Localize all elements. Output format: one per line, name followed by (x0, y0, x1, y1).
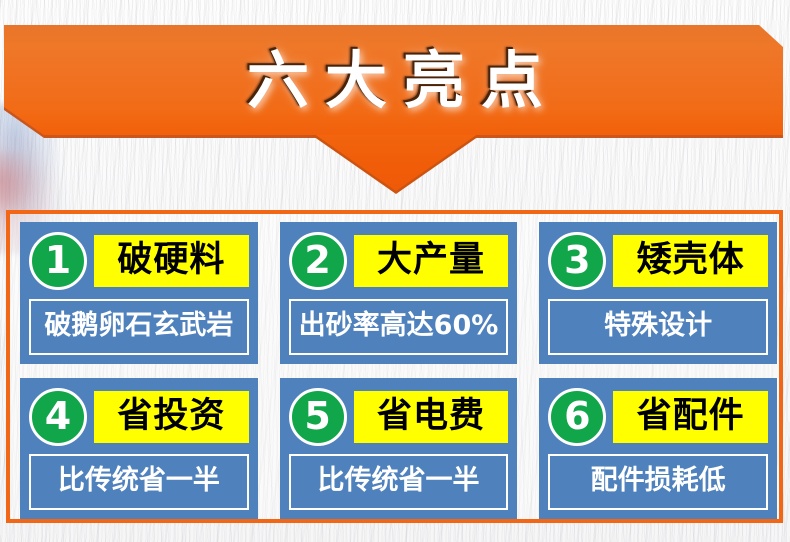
feature-subtitle-2: 出砂率高达60% (289, 299, 509, 355)
feature-grid: 1 破硬料 破鹅卵石玄武岩 2 大产量 出砂率高达60% 3 矮壳体 特殊设计 … (10, 214, 787, 527)
feature-number-badge-3: 3 (548, 232, 606, 290)
feature-subtitle-5: 比传统省一半 (289, 454, 509, 510)
feature-title-4: 省投资 (94, 391, 249, 443)
feature-number-badge-6: 6 (548, 388, 606, 446)
feature-frame: 1 破硬料 破鹅卵石玄武岩 2 大产量 出砂率高达60% 3 矮壳体 特殊设计 … (6, 210, 783, 523)
feature-card-1-header: 1 破硬料 (29, 230, 249, 292)
feature-number-badge-4: 4 (29, 388, 87, 446)
feature-card-3[interactable]: 3 矮壳体 特殊设计 (539, 222, 777, 364)
feature-title-3: 矮壳体 (613, 235, 768, 287)
feature-subtitle-4: 比传统省一半 (29, 454, 249, 510)
feature-title-5: 省电费 (354, 391, 509, 443)
feature-title-6: 省配件 (613, 391, 768, 443)
feature-card-5-header: 5 省电费 (289, 386, 509, 448)
feature-subtitle-3: 特殊设计 (548, 299, 768, 355)
feature-title-1: 破硬料 (94, 235, 249, 287)
feature-card-1[interactable]: 1 破硬料 破鹅卵石玄武岩 (20, 222, 258, 364)
feature-card-4-header: 4 省投资 (29, 386, 249, 448)
banner-arrow-point (310, 131, 482, 191)
page-title: 六大亮点 (0, 33, 790, 129)
feature-card-2-header: 2 大产量 (289, 230, 509, 292)
feature-card-6-header: 6 省配件 (548, 386, 768, 448)
feature-card-5[interactable]: 5 省电费 比传统省一半 (280, 378, 518, 520)
feature-card-3-header: 3 矮壳体 (548, 230, 768, 292)
feature-card-4[interactable]: 4 省投资 比传统省一半 (20, 378, 258, 520)
feature-number-badge-2: 2 (289, 232, 347, 290)
feature-card-2[interactable]: 2 大产量 出砂率高达60% (280, 222, 518, 364)
feature-subtitle-6: 配件损耗低 (548, 454, 768, 510)
feature-card-6[interactable]: 6 省配件 配件损耗低 (539, 378, 777, 520)
header-banner: 六大亮点 (0, 0, 790, 200)
feature-number-badge-1: 1 (29, 232, 87, 290)
feature-subtitle-1: 破鹅卵石玄武岩 (29, 299, 249, 355)
feature-title-2: 大产量 (354, 235, 509, 287)
feature-number-badge-5: 5 (289, 388, 347, 446)
